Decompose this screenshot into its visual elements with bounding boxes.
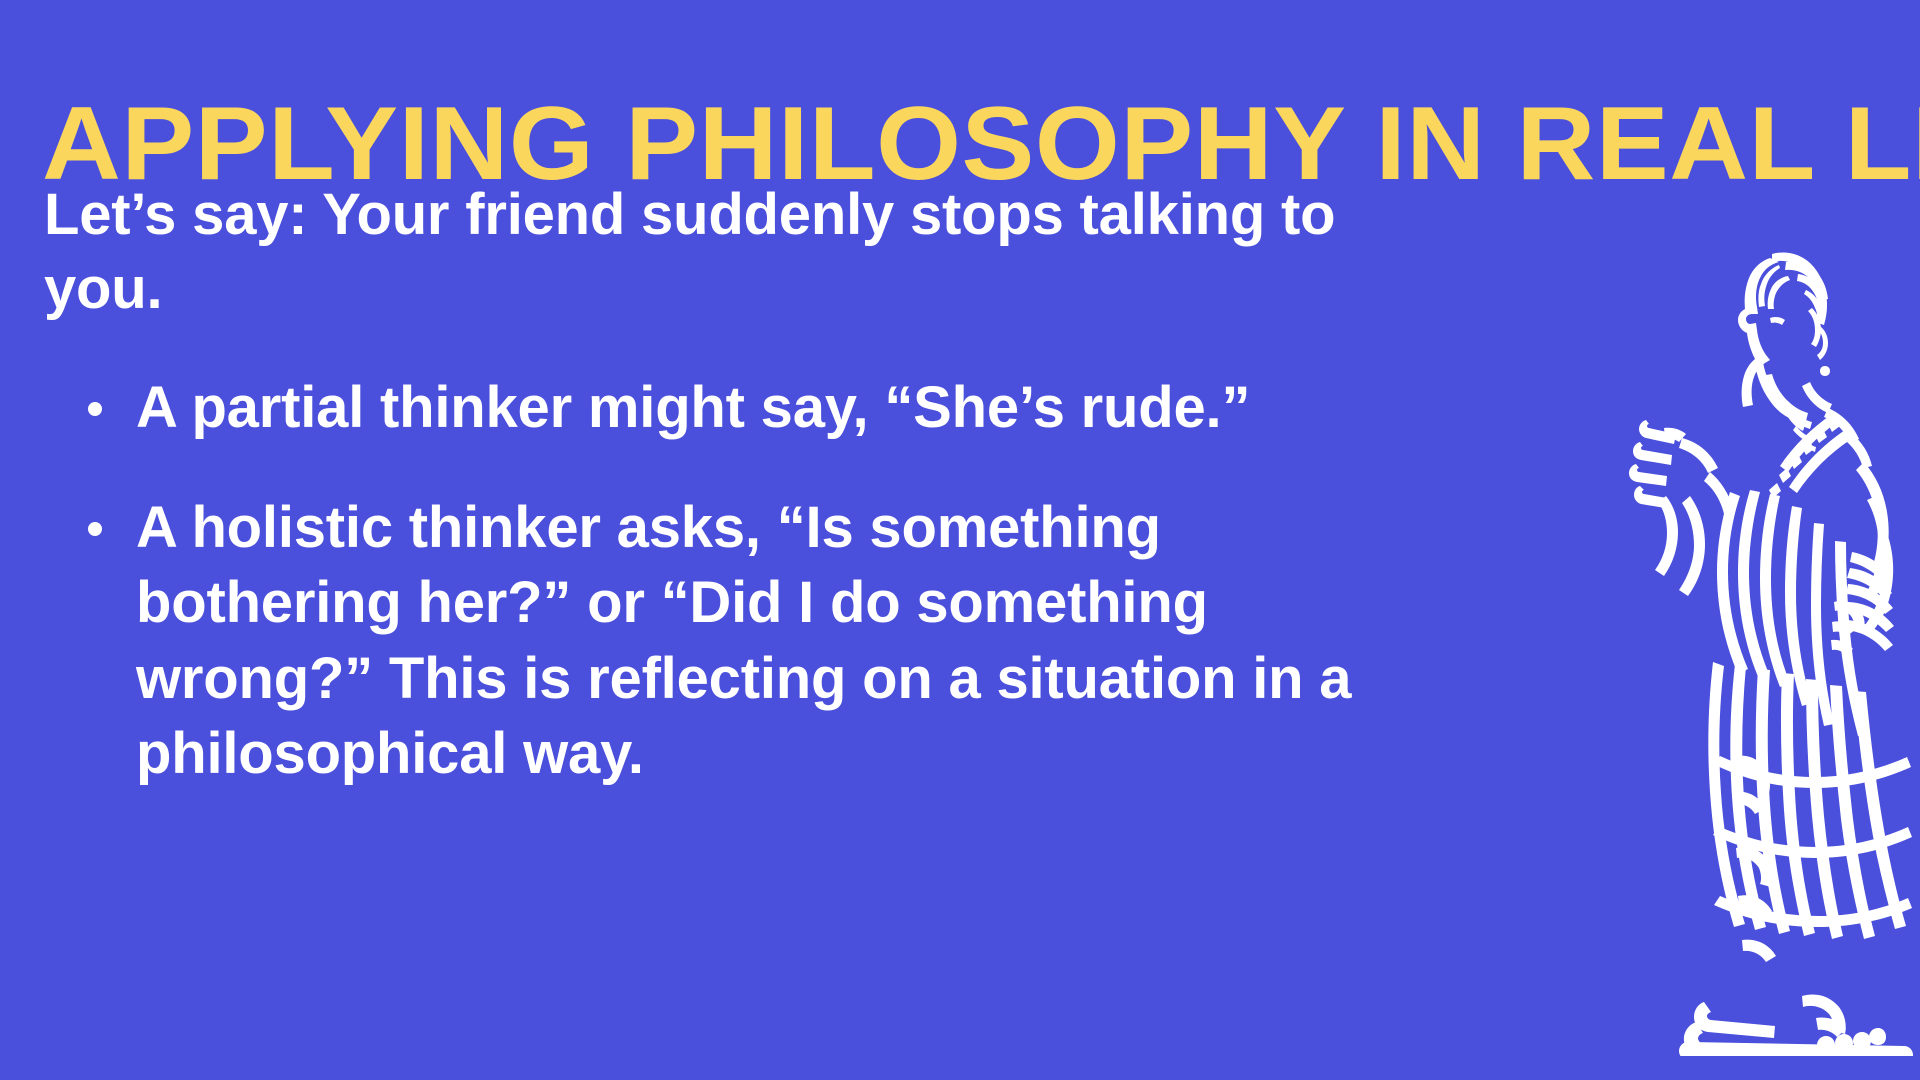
body-content: Let’s say: Your friend suddenly stops ta… — [44, 178, 1404, 791]
bullet-list: A partial thinker might say, “She’s rude… — [44, 370, 1404, 791]
list-item: A partial thinker might say, “She’s rude… — [44, 370, 1396, 445]
list-item: A holistic thinker asks, “Is something b… — [44, 490, 1396, 792]
list-item-label: A partial thinker might say, “She’s rude… — [136, 375, 1250, 440]
greek-philosopher-statue-illustration — [1620, 196, 1920, 1056]
slide-canvas: APPLYING PHILOSOPHY IN REAL LIFE Let’s s… — [0, 0, 1920, 1080]
intro-paragraph: Let’s say: Your friend suddenly stops ta… — [44, 178, 1364, 326]
bullet-dot-icon — [88, 522, 102, 536]
bullet-dot-icon — [88, 402, 102, 416]
list-item-label: A holistic thinker asks, “Is something b… — [136, 495, 1351, 786]
